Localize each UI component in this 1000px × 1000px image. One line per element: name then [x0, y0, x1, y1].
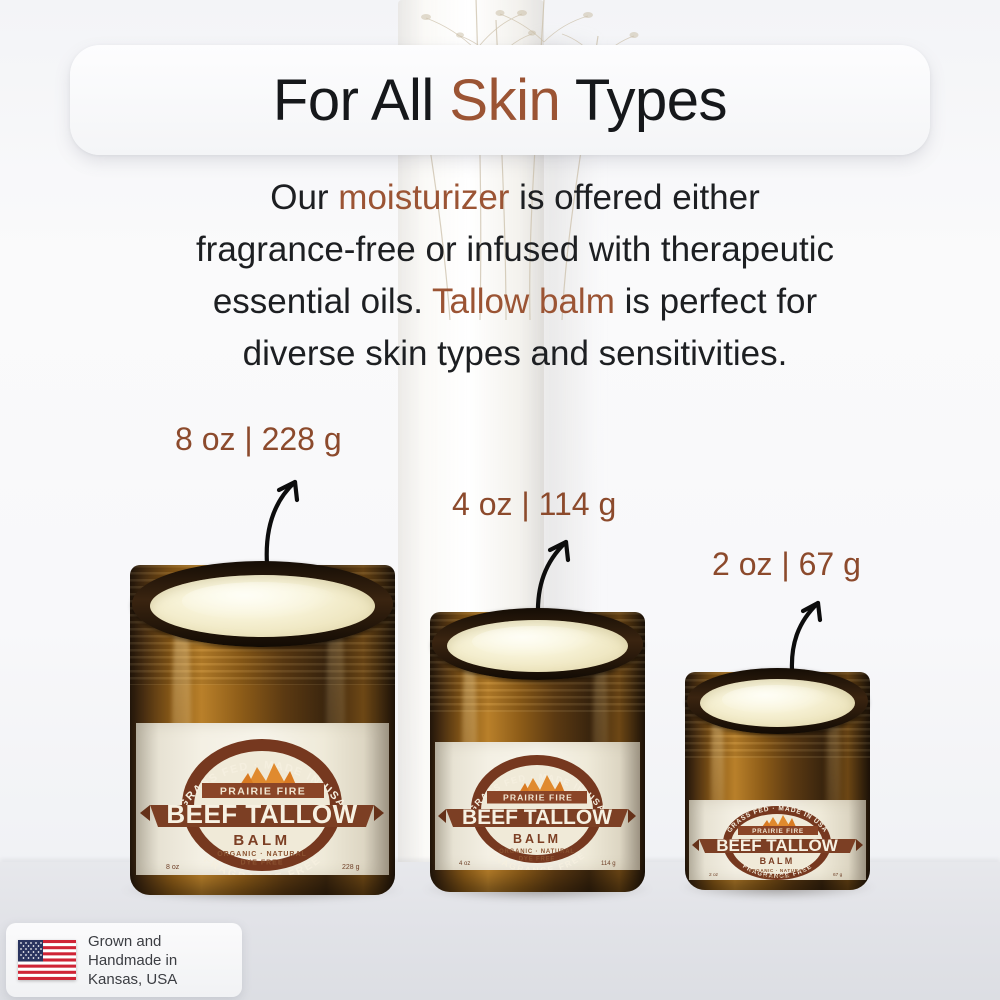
label-claims-2: DYE FREE: [240, 860, 283, 867]
body-line-2: fragrance-free or infused with therapeut…: [120, 224, 910, 276]
product-jar-2oz: GRASS FED · MADE IN USA FRAGRANCE FREE P…: [685, 672, 870, 890]
label-claims-2: DYE FREE: [763, 874, 791, 879]
label-net-oz: 8 oz: [166, 864, 180, 871]
label-subtitle: BALM: [760, 856, 795, 866]
badge-line-3: Kansas, USA: [88, 970, 177, 989]
size-label-4oz: 4 oz | 114 g: [452, 486, 616, 523]
body-text-3a: essential oils.: [213, 282, 432, 321]
label-net-oz: 2 oz: [709, 872, 719, 878]
label-claims-2: DYE FREE: [519, 857, 555, 863]
page-title: For All Skin Types: [273, 67, 727, 134]
us-flag-icon: [18, 940, 76, 980]
label-net-oz: 4 oz: [459, 861, 470, 867]
curved-arrow-up-right-icon: [255, 468, 315, 568]
jar-balm-content: [150, 575, 375, 637]
body-line-1: Our moisturizer is offered either: [120, 172, 910, 224]
headline-pill: For All Skin Types: [70, 45, 930, 155]
label-subtitle: BALM: [233, 832, 290, 849]
product-infographic: For All Skin Types Our moisturizer is of…: [0, 0, 1000, 1000]
headline-text-2: Types: [560, 68, 727, 133]
label-claims-1: ORGANIC · NATURAL: [499, 849, 575, 855]
body-paragraph: Our moisturizer is offered either fragra…: [120, 172, 910, 380]
body-accent-moisturizer: moisturizer: [338, 178, 509, 217]
product-jar-4oz: GRASS FED · MADE IN USA FRAGRANCE FREE P…: [430, 612, 645, 892]
label-title: BEEF TALLOW: [166, 799, 357, 829]
body-text-1a: Our: [270, 178, 338, 217]
label-title: BEEF TALLOW: [462, 806, 612, 829]
made-in-usa-badge: Grown and Handmade in Kansas, USA: [6, 923, 242, 997]
jar-label-4oz: GRASS FED · MADE IN USA FRAGRANCE FREE P…: [435, 742, 640, 870]
label-claims-1: ORGANIC · NATURAL: [217, 851, 307, 858]
badge-line-2: Handmade in: [88, 951, 177, 970]
curved-arrow-up-right-icon: [782, 592, 840, 674]
body-accent-tallow-balm: Tallow balm: [432, 282, 615, 321]
jar-balm-content: [447, 620, 628, 672]
label-net-grams: 114 g: [601, 861, 616, 867]
body-text-3b: is perfect for: [615, 282, 817, 321]
jar-label-2oz: GRASS FED · MADE IN USA FRAGRANCE FREE P…: [689, 800, 866, 880]
label-claims-1: ORGANIC · NATURAL: [748, 868, 806, 873]
jar-balm-content: [700, 679, 855, 727]
label-brand: PRAIRIE FIRE: [752, 828, 804, 835]
label-net-grams: 228 g: [342, 864, 360, 871]
badge-line-1: Grown and: [88, 932, 177, 951]
label-title: BEEF TALLOW: [716, 836, 838, 855]
body-text-1b: is offered either: [509, 178, 759, 217]
label-brand: PRAIRIE FIRE: [503, 793, 573, 803]
headline-accent: Skin: [449, 68, 560, 133]
headline-text-1: For All: [273, 68, 450, 133]
label-net-grams: 67 g: [833, 872, 843, 878]
body-line-3: essential oils. Tallow balm is perfect f…: [120, 276, 910, 328]
label-brand: PRAIRIE FIRE: [220, 786, 306, 798]
label-subtitle: BALM: [513, 832, 561, 846]
product-jar-8oz: GRASS FED · MADE IN USA FRAGRANCE FREE P…: [130, 565, 395, 895]
jar-label-8oz: GRASS FED · MADE IN USA FRAGRANCE FREE P…: [136, 723, 389, 875]
made-in-usa-text: Grown and Handmade in Kansas, USA: [88, 932, 177, 989]
size-label-2oz: 2 oz | 67 g: [712, 546, 861, 583]
size-label-8oz: 8 oz | 228 g: [175, 421, 342, 458]
curved-arrow-up-right-icon: [528, 530, 588, 620]
body-line-4: diverse skin types and sensitivities.: [120, 328, 910, 380]
